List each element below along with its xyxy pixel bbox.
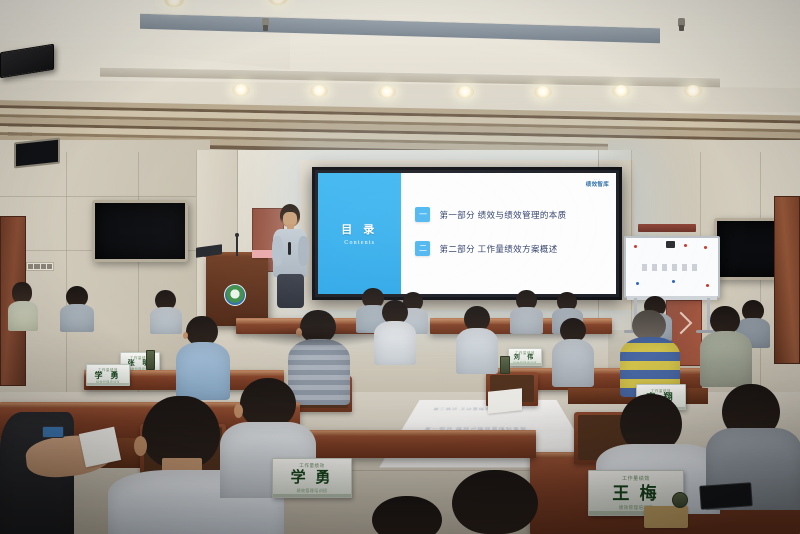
light-switch[interactable] <box>47 264 52 269</box>
ceiling-camera-right <box>678 18 685 27</box>
handout-paper[interactable] <box>488 388 522 414</box>
slide-logo: ··· 绩效智库 <box>586 178 609 188</box>
nameplate-name: 学 勇 <box>291 471 334 486</box>
handheld-microphone[interactable] <box>288 242 291 255</box>
slide-toc-number: 一 <box>415 207 430 222</box>
slide-toc-number: 二 <box>415 241 430 256</box>
whiteboard-clip-icon <box>666 241 675 248</box>
nameplate-xue-yong: 工作量绩效 学 勇 绩效管理培训班 <box>272 458 352 498</box>
slide-toc-title-en: Contents <box>344 240 375 246</box>
nameplate: 工作量绩效 学 勇 绩效管理培训班 <box>86 364 130 386</box>
ceiling-downlight <box>612 85 630 97</box>
nameplate-name: 王 梅 <box>612 485 659 502</box>
whiteboard-surface <box>624 236 720 298</box>
water-cup[interactable] <box>500 356 510 374</box>
wall-seam <box>66 152 67 402</box>
wall-tv-left <box>92 200 188 262</box>
ceiling-downlight <box>310 85 328 97</box>
whiteboard-magnet[interactable] <box>672 280 675 283</box>
phone[interactable] <box>699 482 753 510</box>
shadow <box>250 326 380 348</box>
nameplate-footer: 绩效管理培训班 <box>297 488 328 494</box>
ceiling-camera-left <box>262 18 269 27</box>
desk-item[interactable] <box>672 492 688 508</box>
desk-row-front-center <box>306 430 536 458</box>
nameplate-name: 学 勇 <box>95 372 122 380</box>
nameplate-header: 工作量绩效 <box>299 463 325 469</box>
podium <box>206 256 268 326</box>
presenter-trousers <box>277 274 304 308</box>
whiteboard-top-rail <box>638 224 696 232</box>
whiteboard-magnet[interactable] <box>704 246 707 249</box>
whiteboard-magnet[interactable] <box>634 245 637 248</box>
ceiling-downlight <box>456 86 474 98</box>
slide-toc-item: 一 第一部分 绩效与绩效管理的本质 <box>415 207 608 222</box>
desk-item[interactable] <box>644 506 688 528</box>
slide-toc-title-cn: 目 录 <box>341 221 378 237</box>
slide-toc-item: 二 第二部分 工作量绩效方案概述 <box>415 241 608 256</box>
whiteboard-magnet[interactable] <box>706 284 709 287</box>
whiteboard-writing <box>642 264 702 271</box>
conference-room-photo: 目 录 Contents ··· 绩效智库 一 第一部分 绩效与绩效管理的本质 … <box>0 0 800 534</box>
ceiling-downlight <box>534 86 552 98</box>
light-switch-panel[interactable] <box>26 262 54 271</box>
whiteboard-leg <box>707 298 710 332</box>
ceiling-downlight <box>378 86 396 98</box>
podium-item <box>252 250 274 258</box>
slide-toc-text: 第一部分 绩效与绩效管理的本质 <box>439 209 566 221</box>
slide-logo-text: 绩效智库 <box>586 183 609 189</box>
nameplate-header: 工作量绩效 <box>622 475 650 482</box>
whiteboard-pen-tray <box>627 296 717 300</box>
phone[interactable] <box>42 426 64 438</box>
wall-tv-left-upper <box>14 138 60 169</box>
podium-emblem <box>224 284 246 306</box>
light-switch[interactable] <box>41 264 46 269</box>
slide-contents-panel: 目 录 Contents <box>318 173 401 294</box>
whiteboard-magnet[interactable] <box>684 244 687 247</box>
ceiling-downlight <box>684 85 702 97</box>
whiteboard-magnet[interactable] <box>636 282 639 285</box>
door-right[interactable] <box>774 196 800 364</box>
water-cup[interactable] <box>146 350 155 370</box>
presenter-arm-right <box>298 236 309 266</box>
slide-surface: 目 录 Contents ··· 绩效智库 一 第一部分 绩效与绩效管理的本质 … <box>318 173 616 294</box>
light-switch[interactable] <box>34 264 39 269</box>
light-switch[interactable] <box>28 264 33 269</box>
slide-body: ··· 绩效智库 一 第一部分 绩效与绩效管理的本质 二 第二部分 工作量绩效方… <box>401 173 616 294</box>
presenter-arm-left <box>272 236 283 266</box>
wall-seam <box>0 196 210 197</box>
nameplate: 工作量绩效 刘 伟 绩效管理培训班 <box>508 348 542 366</box>
projection-screen: 目 录 Contents ··· 绩效智库 一 第一部分 绩效与绩效管理的本质 … <box>312 167 622 300</box>
slide-toc-text: 第二部分 工作量绩效方案概述 <box>439 243 557 255</box>
podium-microphone <box>236 236 238 256</box>
ceiling-downlight <box>232 84 250 96</box>
